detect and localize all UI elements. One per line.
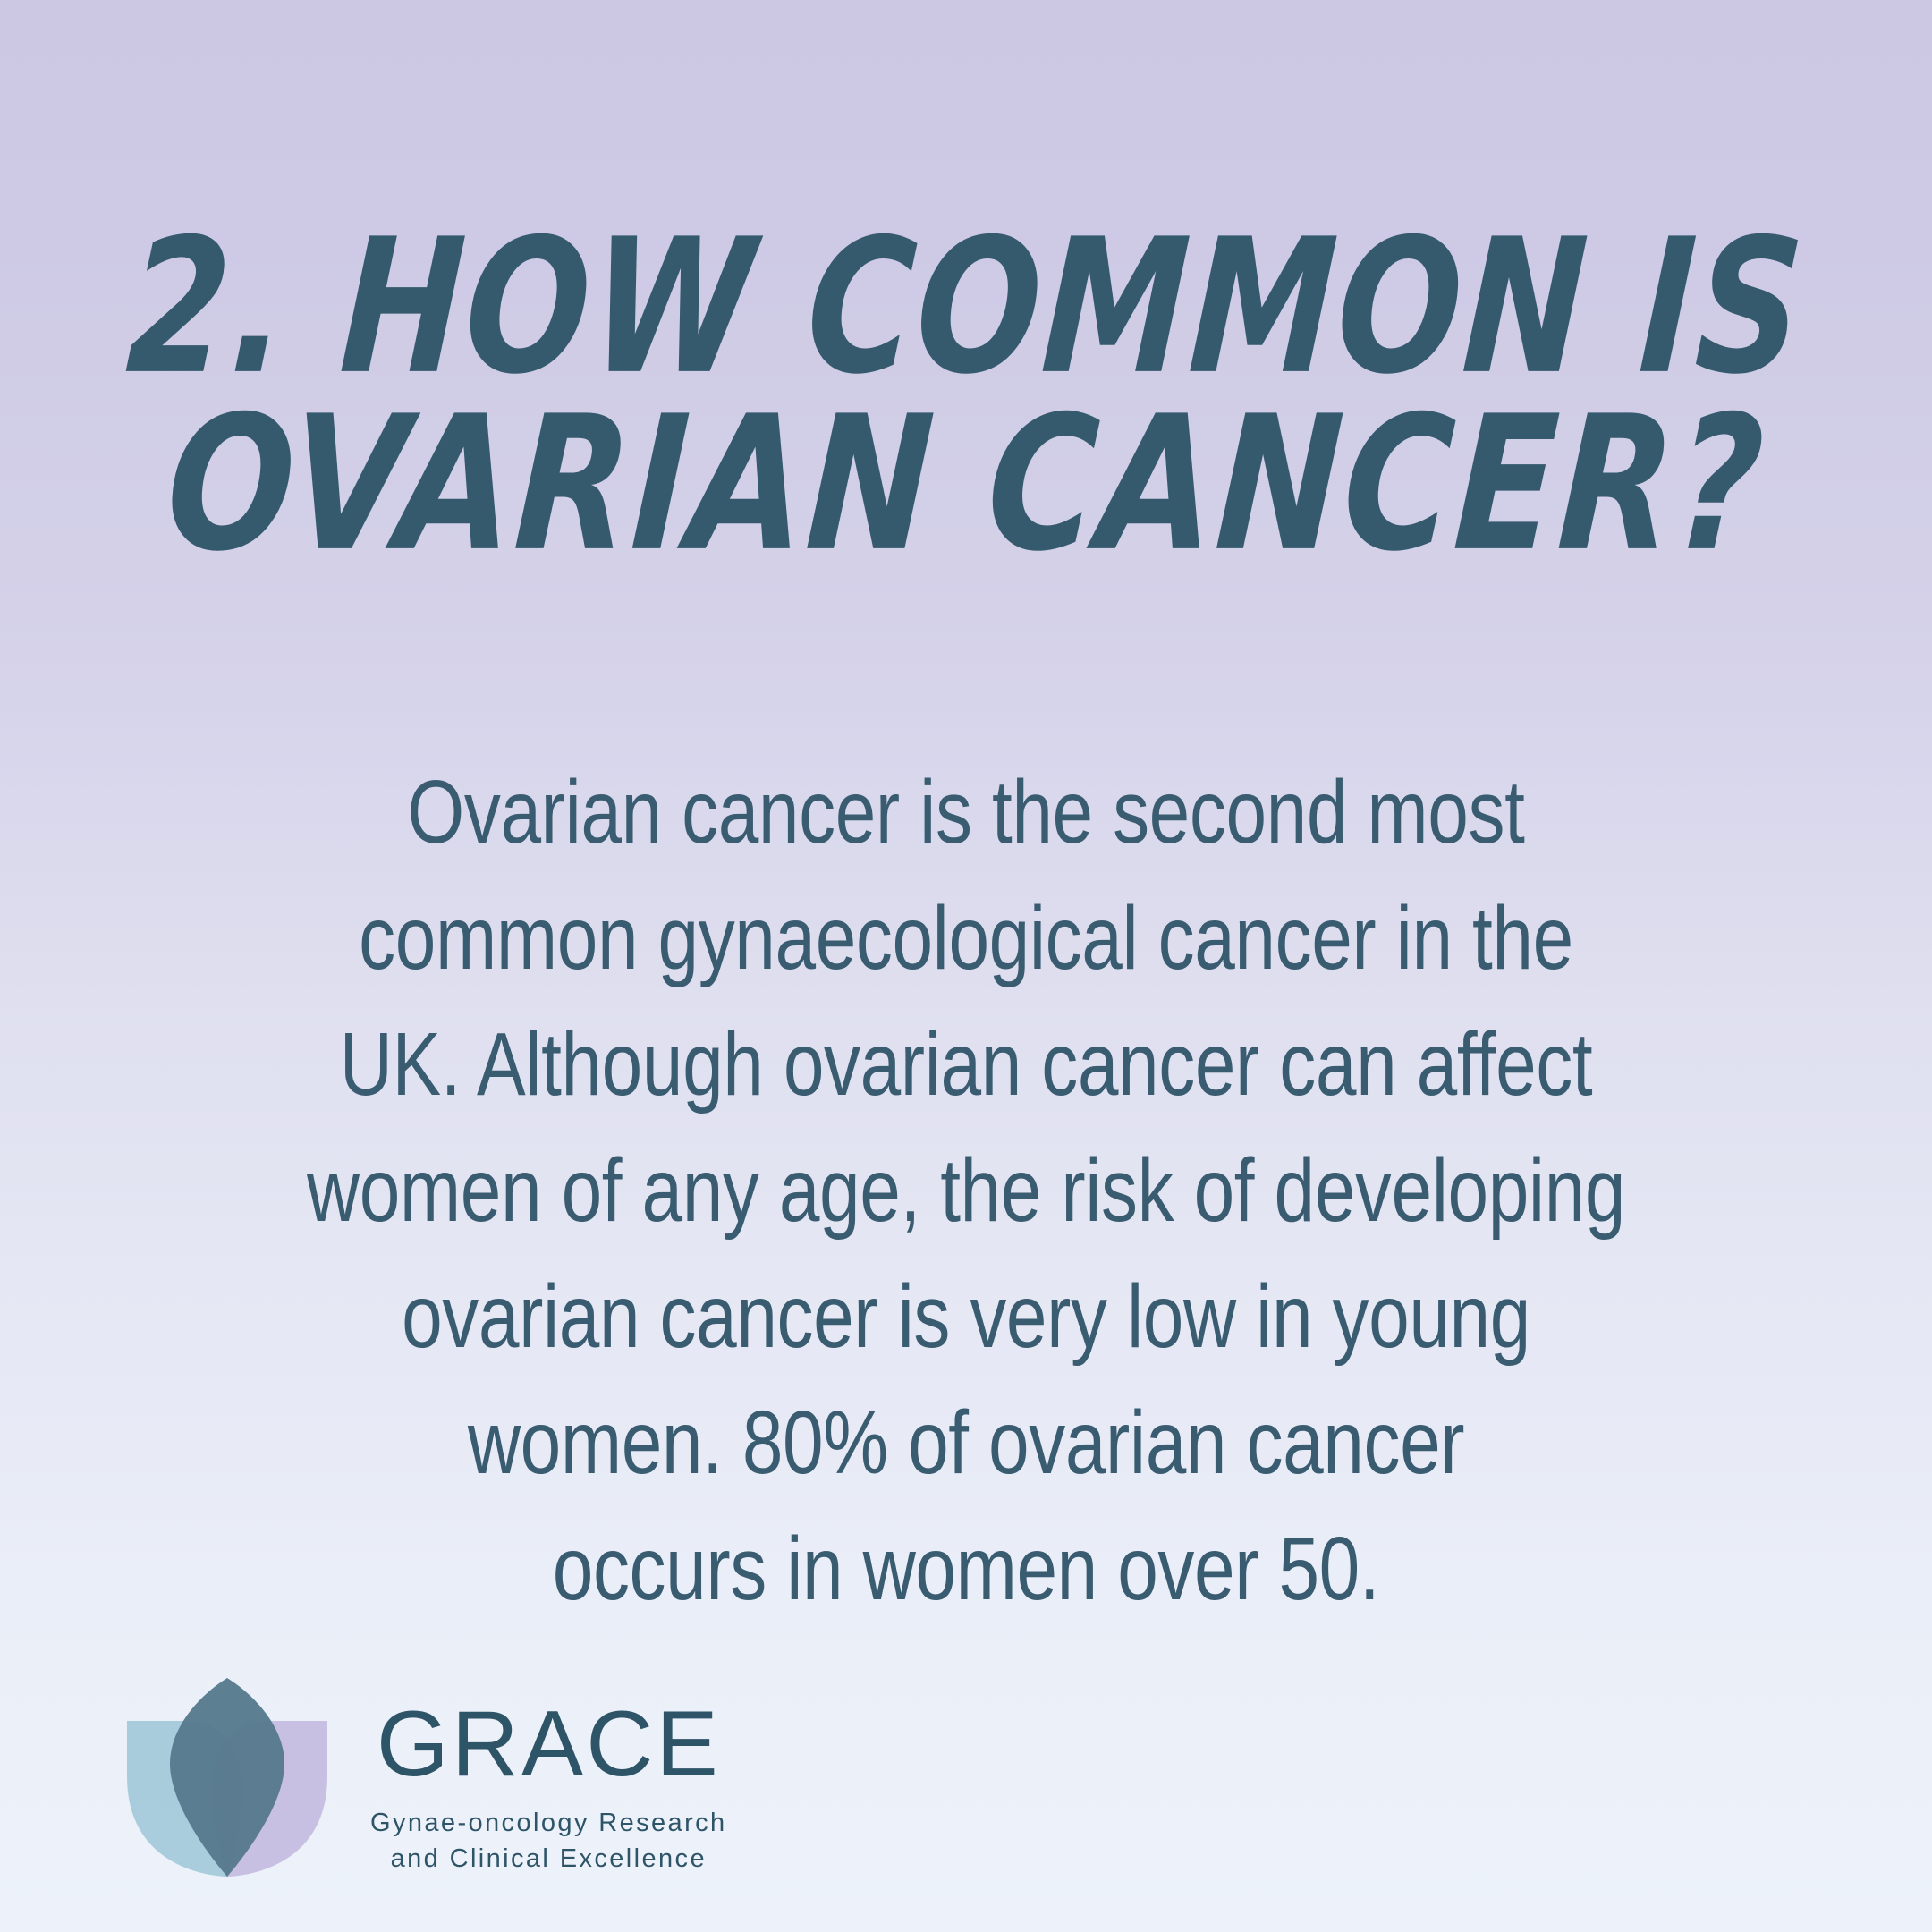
body-line: occurs in women over 50. (225, 1506, 1707, 1632)
grace-tagline-line-2: and Clinical Excellence (370, 1841, 727, 1877)
page-title-line-1: 2. HOW COMMON IS (63, 221, 1868, 394)
page-title-line-2: OVARIAN CANCER? (44, 398, 1889, 571)
grace-tagline: Gynae-oncology Research and Clinical Exc… (370, 1805, 727, 1877)
body-line: UK. Although ovarian cancer can affect (225, 1002, 1707, 1128)
grace-wordmark: GRACE (377, 1698, 721, 1791)
lotus-flower-icon (114, 1678, 340, 1889)
body-line: common gynaecological cancer in the (225, 876, 1707, 1002)
body-line: women. 80% of ovarian cancer (225, 1380, 1707, 1506)
grace-logo: GRACE Gynae-oncology Research and Clinic… (114, 1678, 727, 1889)
body-line: women of any age, the risk of developing (225, 1128, 1707, 1254)
grace-tagline-line-1: Gynae-oncology Research (370, 1805, 727, 1841)
grace-wordmark-group: GRACE Gynae-oncology Research and Clinic… (370, 1690, 727, 1877)
page-title: 2. HOW COMMON IS OVARIAN CANCER? (0, 234, 1932, 557)
body-line: Ovarian cancer is the second most (225, 750, 1707, 876)
infographic-poster: 2. HOW COMMON IS OVARIAN CANCER? Ovarian… (0, 0, 1932, 1932)
body-paragraph: Ovarian cancer is the second most common… (63, 750, 1869, 1632)
body-line: ovarian cancer is very low in young (225, 1254, 1707, 1380)
